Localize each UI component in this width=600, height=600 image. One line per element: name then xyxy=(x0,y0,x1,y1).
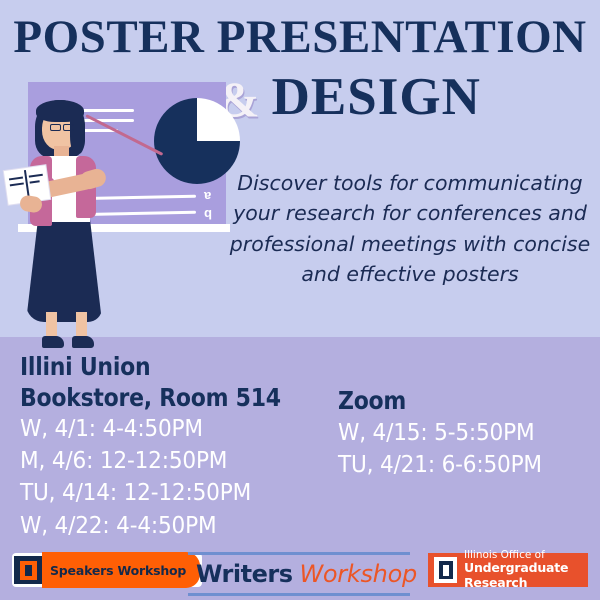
title-line-1: POSTER PRESENTATION xyxy=(0,14,600,62)
poster-description: Discover tools for communicating your re… xyxy=(228,168,592,289)
venue-heading-line-1: Zoom xyxy=(338,386,567,417)
footer-logo-bar: Speakers Workshop WritersWorkshop Illino… xyxy=(0,545,600,600)
presenter-illustration: a b xyxy=(0,74,240,342)
writers-workshop-label: WritersWorkshop xyxy=(188,555,410,593)
writers-word: Writers xyxy=(196,560,292,588)
workshop-word: Workshop xyxy=(299,560,416,588)
poster-title: POSTER PRESENTATION &DESIGN xyxy=(0,14,600,62)
board-symbol-b: b xyxy=(204,208,212,221)
writers-workshop-logo[interactable]: WritersWorkshop xyxy=(188,552,410,596)
session-time: M, 4/6: 12-12:50PM xyxy=(20,445,321,477)
schedule-column-illini-union: Illini Union Bookstore, Room 514 W, 4/1:… xyxy=(20,352,340,542)
session-time: W, 4/15: 5-5:50PM xyxy=(338,417,582,449)
session-time: W, 4/1: 4-4:50PM xyxy=(20,413,321,445)
uor-line-2: Undergraduate Research xyxy=(464,561,582,591)
poster-canvas: POSTER PRESENTATION &DESIGN a b xyxy=(0,0,600,600)
undergraduate-research-label: Illinois Office of Undergraduate Researc… xyxy=(464,549,582,591)
presenter-skirt xyxy=(26,218,102,322)
session-time: TU, 4/14: 12-12:50PM xyxy=(20,477,321,509)
presenter-hair-side xyxy=(70,110,85,154)
undergraduate-research-logo[interactable]: Illinois Office of Undergraduate Researc… xyxy=(428,553,588,587)
illinois-block-i-icon xyxy=(434,557,457,583)
schedule-column-zoom: Zoom W, 4/15: 5-5:50PM TU, 4/21: 6-6:50P… xyxy=(338,386,598,481)
presenter-shoe-left xyxy=(42,336,64,348)
session-time: W, 4/22: 4-4:50PM xyxy=(20,510,321,542)
presenter-glasses-icon xyxy=(50,124,74,129)
venue-heading-line-2: Bookstore, Room 514 xyxy=(20,383,302,414)
speakers-workshop-label: Speakers Workshop xyxy=(42,552,200,588)
venue-heading-line-1: Illini Union xyxy=(20,352,302,383)
title-design-word: DESIGN xyxy=(272,68,481,126)
writers-rule-bottom xyxy=(188,593,410,596)
title-line-2: &DESIGN xyxy=(218,71,600,124)
speakers-workshop-logo[interactable]: Speakers Workshop xyxy=(12,553,202,587)
presenter-shoe-right xyxy=(72,336,94,348)
board-symbol-a: a xyxy=(204,190,211,203)
illinois-block-i-icon xyxy=(14,556,42,584)
schedule-section: Illini Union Bookstore, Room 514 W, 4/1:… xyxy=(0,352,600,532)
session-time: TU, 4/21: 6-6:50PM xyxy=(338,449,582,481)
